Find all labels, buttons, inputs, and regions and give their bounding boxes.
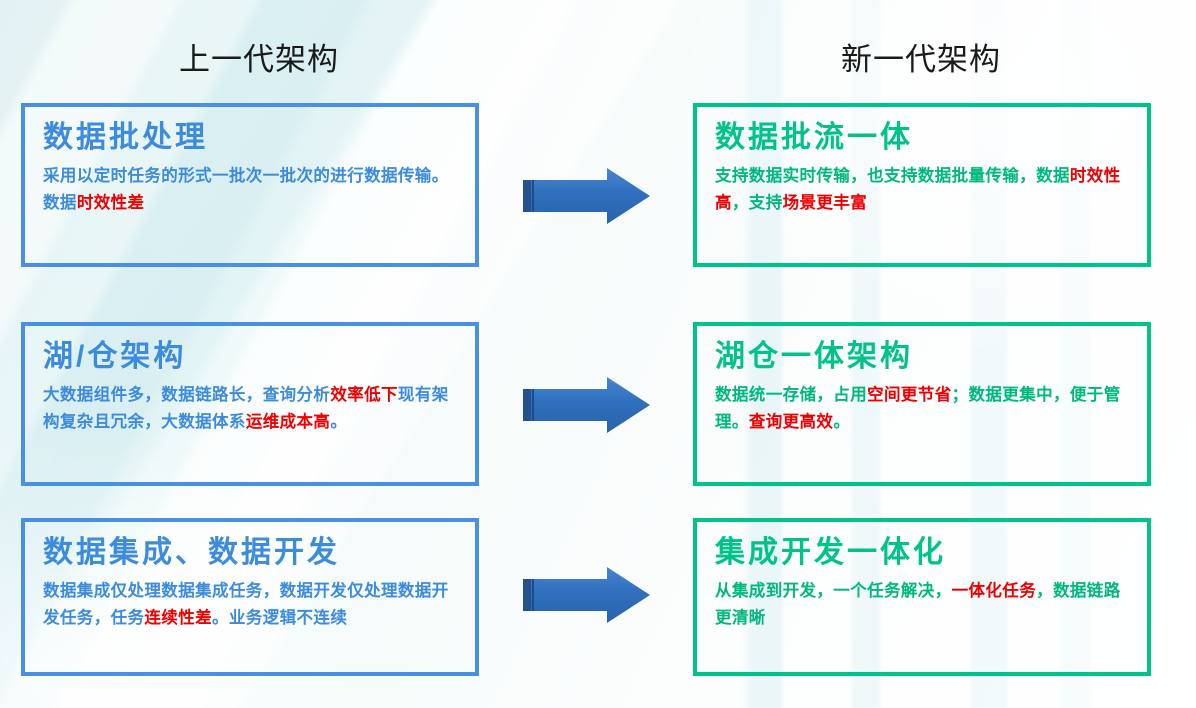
highlighted-phrase: 查询更高效 xyxy=(749,413,834,431)
card-legacy-lake-warehouse[interactable]: 湖/仓架构 大数据组件多，数据链路长，查询分析效率低下现有架构复杂且冗余，大数据… xyxy=(21,322,479,486)
body-text: 。 xyxy=(833,413,850,431)
card-new-batch-stream-unified[interactable]: 数据批流一体 支持数据实时传输，也支持数据批量传输，数据时效性高，支持场景更丰富 xyxy=(693,103,1151,267)
body-text: 。业务逻辑不连续 xyxy=(212,609,347,627)
highlighted-phrase: 连续性差 xyxy=(144,609,212,627)
card-title: 数据批流一体 xyxy=(715,121,1129,154)
diagram-canvas: 上一代架构 新一代架构 数据批处理 采用以定时任务的形式一批次一批次的进行数据传… xyxy=(0,0,1196,708)
body-text: 支持数据实时传输，也支持数据批量传输，数据 xyxy=(715,167,1070,185)
card-body: 数据集成仅处理数据集成任务，数据开发仅处理数据开发任务，任务连续性差。业务逻辑不… xyxy=(43,578,457,631)
card-legacy-batch-processing[interactable]: 数据批处理 采用以定时任务的形式一批次一批次的进行数据传输。数据时效性差 xyxy=(21,103,479,267)
body-text: 大数据组件多，数据链路长，查询分析 xyxy=(43,386,330,404)
card-body: 采用以定时任务的形式一批次一批次的进行数据传输。数据时效性差 xyxy=(43,163,457,216)
right-arrow-icon xyxy=(519,166,653,226)
highlighted-phrase: 时效性差 xyxy=(77,194,145,212)
body-text: 数据统一存储，占用 xyxy=(715,386,867,404)
card-new-lakehouse[interactable]: 湖仓一体架构 数据统一存储，占用空间更节省；数据更集中，便于管理。查询更高效。 xyxy=(693,322,1151,486)
card-title: 湖仓一体架构 xyxy=(715,340,1129,373)
card-title: 数据集成、数据开发 xyxy=(43,536,457,569)
body-text: ，支持 xyxy=(732,194,783,212)
highlighted-phrase: 运维成本高 xyxy=(246,413,331,431)
card-title: 湖/仓架构 xyxy=(43,340,457,373)
body-text: 从集成到开发，一个任务解决， xyxy=(715,582,952,600)
card-body: 数据统一存储，占用空间更节省；数据更集中，便于管理。查询更高效。 xyxy=(715,382,1129,435)
card-body: 大数据组件多，数据链路长，查询分析效率低下现有架构复杂且冗余，大数据体系运维成本… xyxy=(43,382,457,435)
column-title-right: 新一代架构 xyxy=(841,44,1001,75)
highlighted-phrase: 效率低下 xyxy=(330,386,398,404)
card-title: 集成开发一体化 xyxy=(715,536,1129,569)
highlighted-phrase: 场景更丰富 xyxy=(783,194,868,212)
card-new-integrated-development[interactable]: 集成开发一体化 从集成到开发，一个任务解决，一体化任务，数据链路更清晰 xyxy=(693,518,1151,676)
right-arrow-icon xyxy=(519,565,653,625)
body-text: 。 xyxy=(330,413,347,431)
highlighted-phrase: 空间更节省 xyxy=(867,386,952,404)
highlighted-phrase: 一体化任务 xyxy=(952,582,1037,600)
right-arrow-icon xyxy=(519,375,653,435)
column-title-left: 上一代架构 xyxy=(179,44,339,75)
card-body: 支持数据实时传输，也支持数据批量传输，数据时效性高，支持场景更丰富 xyxy=(715,163,1129,216)
card-body: 从集成到开发，一个任务解决，一体化任务，数据链路更清晰 xyxy=(715,578,1129,631)
card-title: 数据批处理 xyxy=(43,121,457,154)
card-legacy-integration-development[interactable]: 数据集成、数据开发 数据集成仅处理数据集成任务，数据开发仅处理数据开发任务，任务… xyxy=(21,518,479,676)
